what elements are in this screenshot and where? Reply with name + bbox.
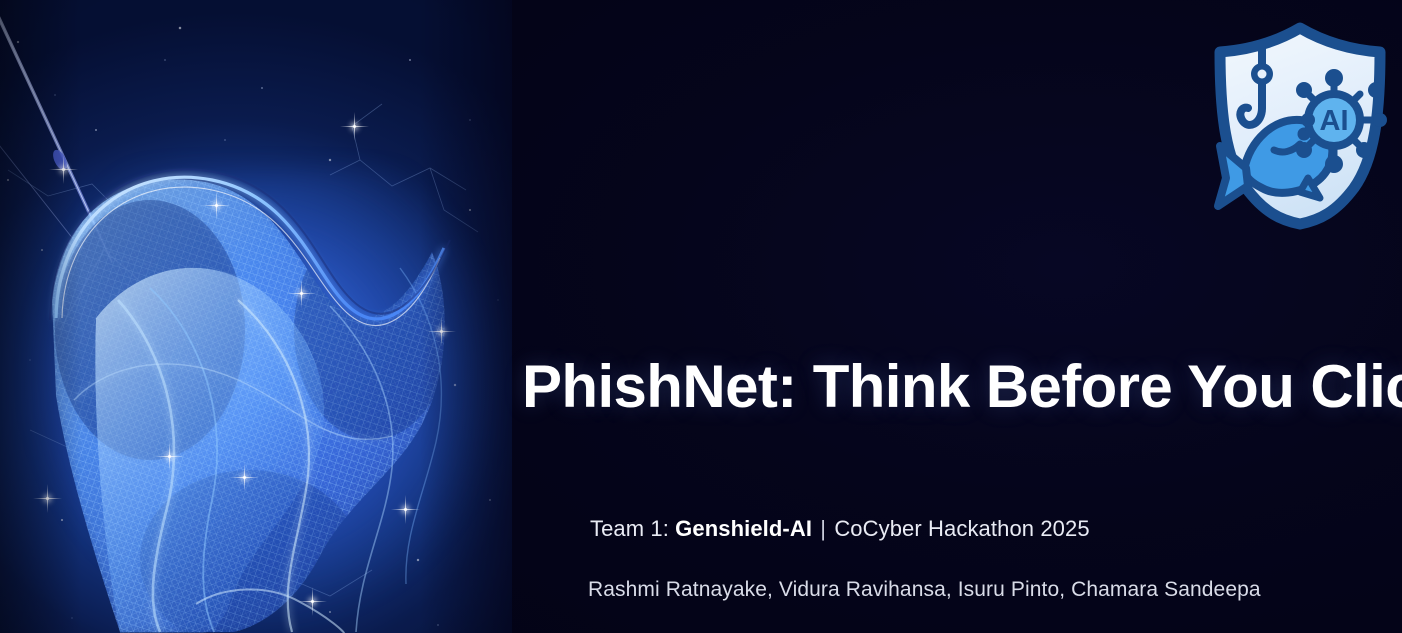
content-panel: AI PhishNet: Think Before You Click! Tea… [512, 0, 1402, 633]
sparkle-star [404, 508, 407, 511]
sparkle-star [300, 292, 303, 295]
fishing-net-illustration [0, 0, 512, 633]
phishnet-shield-ai-logo: AI [1204, 20, 1396, 230]
page-title: PhishNet: Think Before You Click! [522, 355, 1392, 418]
sparkle-star [440, 330, 443, 333]
hero-image-panel [0, 0, 512, 633]
sparkle-star [353, 125, 356, 128]
sparkle-star [46, 497, 49, 500]
sparkle-star [62, 168, 65, 171]
sparkle-star [168, 455, 171, 458]
team-name: Genshield-AI [675, 516, 812, 541]
sparkle-star [215, 204, 218, 207]
byline-separator: | [812, 516, 834, 541]
authors-list: Rashmi Ratnayake, Vidura Ravihansa, Isur… [588, 578, 1261, 602]
sparkle-star [311, 600, 314, 603]
event-name: CoCyber Hackathon 2025 [834, 516, 1089, 541]
byline-prefix: Team 1: [590, 516, 675, 541]
ai-badge-label: AI [1320, 105, 1349, 137]
title-slide: AI PhishNet: Think Before You Click! Tea… [0, 0, 1402, 633]
byline: Team 1: Genshield-AI | CoCyber Hackathon… [590, 516, 1090, 542]
sparkle-star [243, 476, 246, 479]
